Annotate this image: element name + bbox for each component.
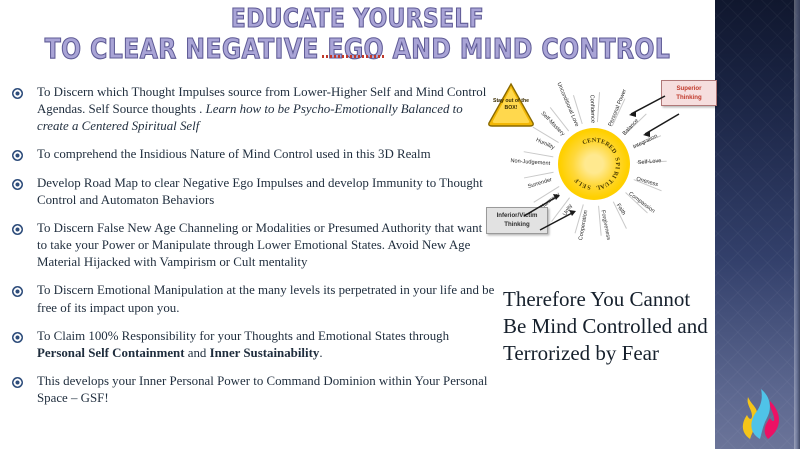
conclusion-statement: Therefore You Cannot Be Mind Controlled … — [503, 286, 708, 367]
virtue-label: Confidence — [588, 95, 595, 124]
superior-thinking-arrows — [625, 92, 685, 140]
bullet-discern-thought-impulses: To Discern which Thought Impulses source… — [37, 84, 495, 135]
bullet-text-segment: and — [185, 346, 210, 360]
bullet-target-icon — [12, 332, 23, 343]
list-item: To Discern which Thought Impulses source… — [8, 84, 495, 135]
virtue-label: Faith — [615, 203, 627, 217]
bullet-target-icon — [12, 286, 23, 297]
list-item: To Claim 100% Responsibility for your Th… — [8, 328, 495, 362]
bullet-target-icon — [12, 224, 23, 235]
sidebar-diamond-pattern — [715, 0, 800, 449]
bullet-emotional-manipulation: To Discern Emotional Manipulation at the… — [37, 282, 495, 316]
list-item: To comprehend the Insidious Nature of Mi… — [8, 146, 495, 163]
diagram-ray — [524, 151, 554, 158]
bullet-text-segment: To Discern Emotional Manipulation at the… — [37, 283, 494, 314]
bullet-target-icon — [12, 88, 23, 99]
virtue-label: Compassion — [627, 191, 655, 215]
bullet-text-segment: To Discern False New Age Channeling or M… — [37, 221, 482, 269]
bullet-text-segment: To comprehend the Insidious Nature of Mi… — [37, 147, 431, 161]
bullet-road-map: Develop Road Map to clear Negative Ego I… — [37, 175, 495, 209]
slide-sidebar — [715, 0, 800, 449]
bullet-target-icon — [12, 377, 23, 388]
bullet-text-segment: . — [319, 346, 322, 360]
bullet-list: To Discern which Thought Impulses source… — [8, 84, 495, 418]
virtue-label: Self-Love — [638, 158, 662, 166]
stay-out-of-box-label: Stay out of the BOX! — [487, 98, 535, 112]
bullet-text-segment: This develops your Inner Personal Power … — [37, 374, 487, 405]
bullet-text-segment: Personal Self Containment — [37, 346, 185, 360]
virtue-label: Non-Judgement — [510, 158, 550, 167]
presentation-slide: EDUCATE YOURSELF TO CLEAR NEGATIVE EGO A… — [0, 0, 800, 449]
bullet-false-new-age: To Discern False New Age Channeling or M… — [37, 220, 495, 271]
bullet-text-segment: Develop Road Map to clear Negative Ego I… — [37, 176, 483, 207]
sun-label-char: I — [614, 166, 621, 169]
diagram-ray — [597, 92, 600, 122]
sidebar-edge-highlight — [794, 0, 800, 449]
bullet-target-icon — [12, 179, 23, 190]
bullet-target-icon — [12, 150, 23, 161]
list-item: To Discern Emotional Manipulation at the… — [8, 282, 495, 316]
bullet-claim-responsibility: To Claim 100% Responsibility for your Th… — [37, 328, 495, 362]
title-line-2: TO CLEAR NEGATIVE EGO AND MIND CONTROL — [25, 34, 690, 64]
list-item: This develops your Inner Personal Power … — [8, 373, 495, 407]
title-spellcheck-underline — [322, 55, 385, 58]
bullet-inner-personal-power: This develops your Inner Personal Power … — [37, 373, 495, 407]
list-item: To Discern False New Age Channeling or M… — [8, 220, 495, 271]
bullet-insidious-nature: To comprehend the Insidious Nature of Mi… — [37, 146, 495, 163]
sun-label-char: S — [587, 183, 591, 190]
stay-out-of-box-callout: Stay out of the BOX! — [487, 82, 535, 127]
list-item: Develop Road Map to clear Negative Ego I… — [8, 175, 495, 209]
tri-color-flame-logo — [736, 387, 782, 439]
virtue-label: Oneness — [635, 176, 658, 188]
title-line-1: EDUCATE YOURSELF — [25, 6, 690, 34]
bullet-text-segment: To Claim 100% Responsibility for your Th… — [37, 329, 449, 343]
virtue-label: Forgiveness — [599, 210, 611, 241]
bullet-text-segment: Inner Sustainability — [210, 346, 320, 360]
inferior-thinking-arrows — [518, 184, 582, 232]
